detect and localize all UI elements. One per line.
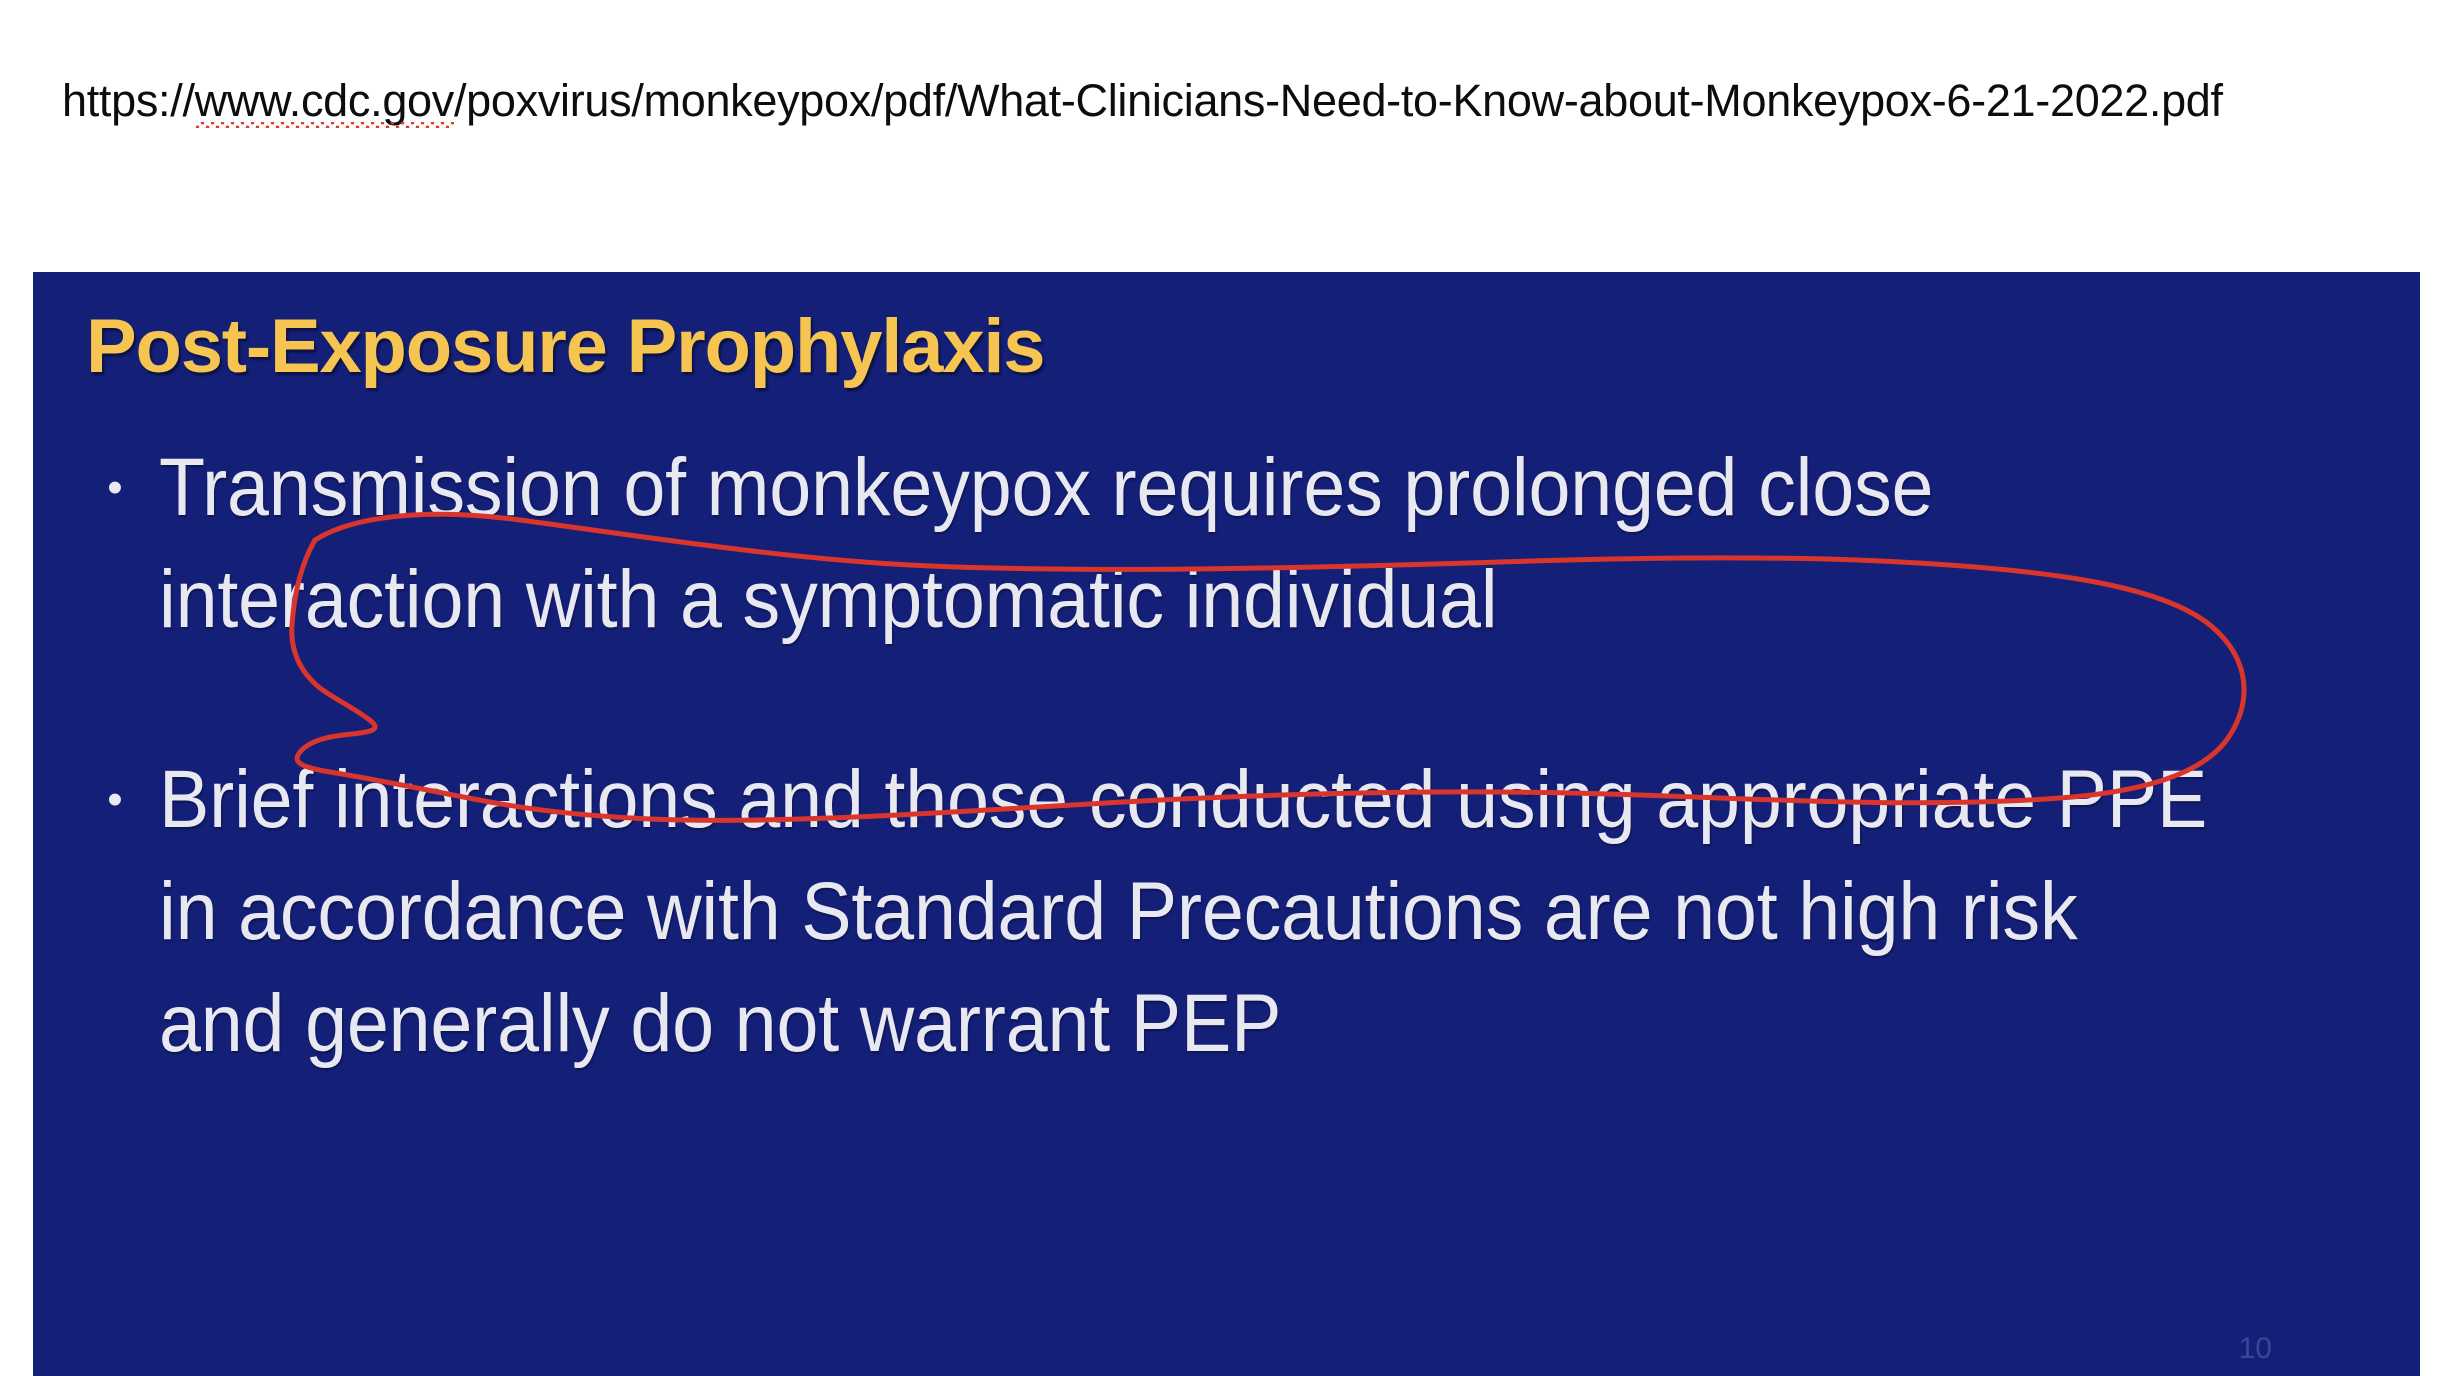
bullet-marker-icon: •: [71, 432, 159, 544]
url-domain-misspelled: www.cdc.gov: [195, 78, 454, 123]
slide-title: Post-Exposure Prophylaxis: [86, 305, 1044, 389]
bullet-marker-icon: •: [71, 744, 159, 856]
bullet-text-1: Transmission of monkeypox requires prolo…: [159, 432, 2222, 656]
source-url-text: https://www.cdc.gov/poxvirus/monkeypox/p…: [62, 78, 2223, 123]
bullet-list: • Transmission of monkeypox requires pro…: [71, 432, 2401, 1080]
url-path: /poxvirus/monkeypox/pdf/What-Clinicians-…: [454, 75, 2223, 126]
bullet-text-2: Brief interactions and those conducted u…: [159, 744, 2222, 1080]
url-prefix: https://: [62, 75, 195, 126]
bullet-item-2: • Brief interactions and those conducted…: [71, 744, 2401, 1080]
slide-number: 10: [2239, 1332, 2272, 1366]
slide-panel: Post-Exposure Prophylaxis • Transmission…: [33, 272, 2420, 1376]
bullet-item-1: • Transmission of monkeypox requires pro…: [71, 432, 2401, 656]
